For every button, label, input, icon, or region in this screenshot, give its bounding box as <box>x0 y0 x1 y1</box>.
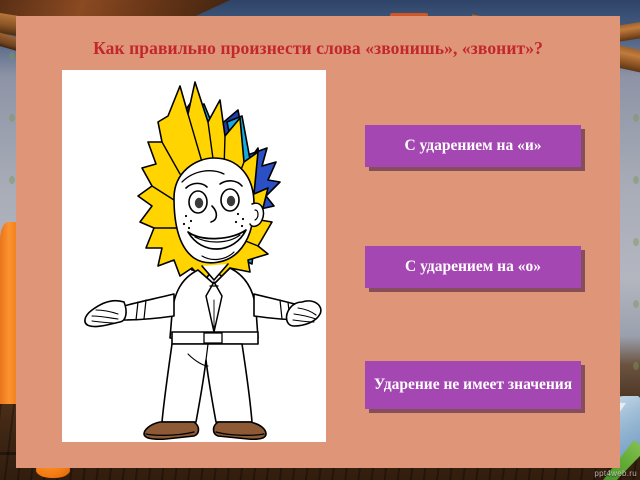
cartoon-boy-illustration <box>62 70 326 442</box>
answer-option-2[interactable]: С ударением на «о» <box>365 246 581 288</box>
page-title: Как правильно произнести слова «звонишь»… <box>16 38 620 59</box>
site-watermark: ppt4web.ru <box>594 469 637 478</box>
content-panel: Как правильно произнести слова «звонишь»… <box>16 16 620 468</box>
answer-option-3[interactable]: Ударение не имеет значения <box>365 361 581 409</box>
illustration-frame <box>62 70 326 442</box>
answer-option-1[interactable]: С ударением на «и» <box>365 125 581 167</box>
slide-stage: Как правильно произнести слова «звонишь»… <box>0 0 640 480</box>
